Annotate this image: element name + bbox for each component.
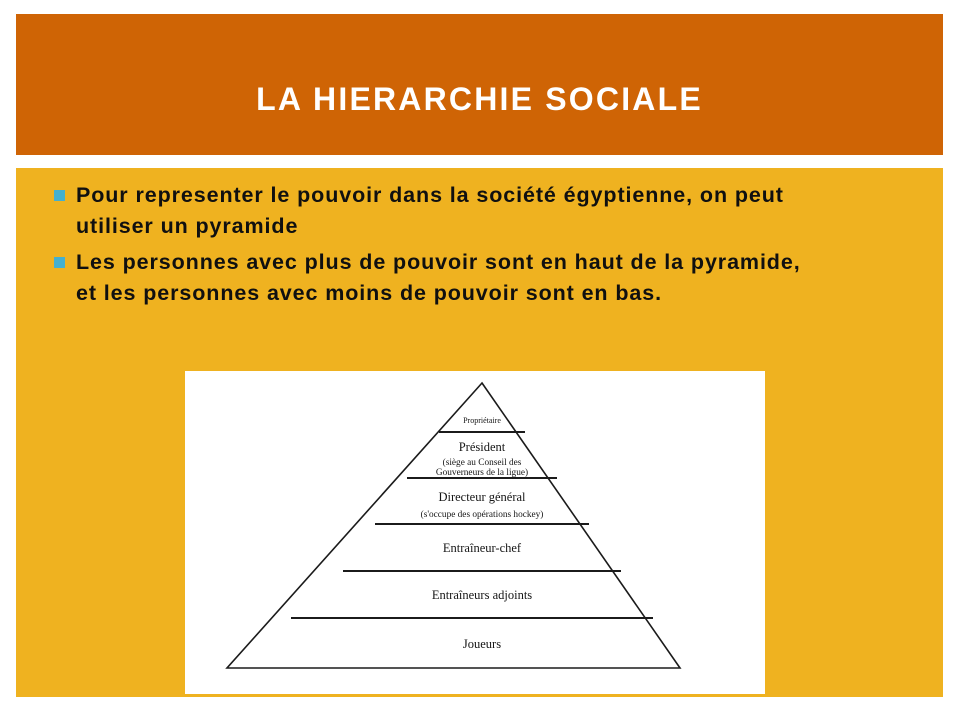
body-panel: Pour representer le pouvoir dans la soci… xyxy=(16,168,943,697)
title-banner: La hierarchie sociale xyxy=(16,14,943,155)
pyramid-level-3-sublabel-1: (s'occupe des opérations hockey) xyxy=(421,509,544,520)
list-item-text: Pour representer le pouvoir dans la soci… xyxy=(76,180,866,242)
pyramid-level-3-label: Directeur général xyxy=(438,490,526,504)
page-title: La hierarchie sociale xyxy=(16,80,943,118)
hierarchy-pyramid-figure: Propriétaire Président (siège au Conseil… xyxy=(185,371,765,694)
list-item: Les personnes avec plus de pouvoir sont … xyxy=(54,247,899,309)
square-bullet-icon xyxy=(54,190,65,201)
list-item: Pour representer le pouvoir dans la soci… xyxy=(54,180,899,242)
pyramid-level-6-label: Joueurs xyxy=(463,637,501,651)
pyramid-diagram: Propriétaire Président (siège au Conseil… xyxy=(185,371,765,694)
pyramid-outline xyxy=(227,383,680,668)
list-item-text: Les personnes avec plus de pouvoir sont … xyxy=(76,247,811,309)
pyramid-level-2-sublabel-1: (siège au Conseil des xyxy=(443,457,522,468)
bullet-list: Pour representer le pouvoir dans la soci… xyxy=(54,180,899,314)
pyramid-level-4-label: Entraîneur-chef xyxy=(443,541,522,555)
pyramid-level-2-label: Président xyxy=(459,440,506,454)
slide: La hierarchie sociale Pour representer l… xyxy=(0,0,960,720)
square-bullet-icon xyxy=(54,257,65,268)
pyramid-level-5-label: Entraîneurs adjoints xyxy=(432,588,532,602)
pyramid-level-1-label: Propriétaire xyxy=(463,416,501,425)
pyramid-level-2-sublabel-2: Gouverneurs de la ligue) xyxy=(436,467,528,478)
